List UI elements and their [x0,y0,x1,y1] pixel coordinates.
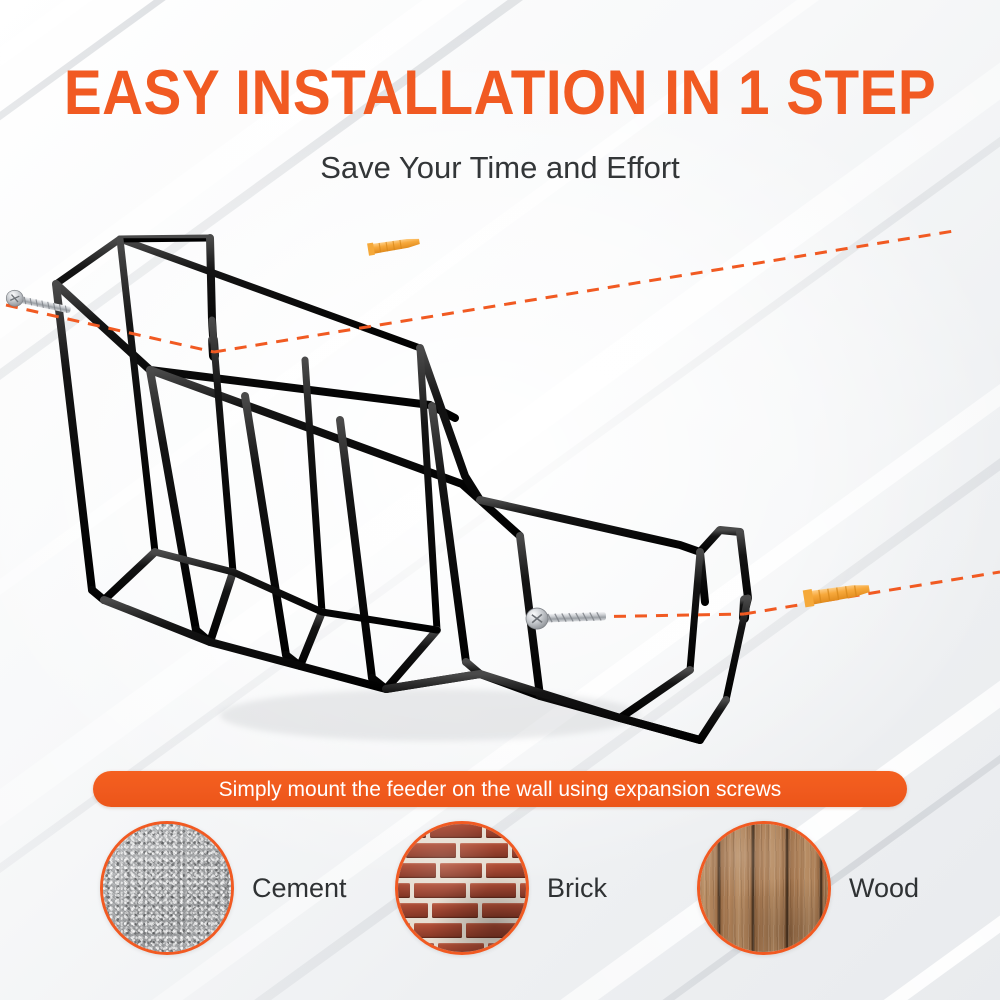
lower-screw [526,606,607,630]
page-subtitle: Save Your Time and Effort [0,152,1000,183]
back-vertical-2 [212,320,233,572]
back-vertical-5 [690,552,700,670]
upper-anchor [367,235,420,255]
front-vertical-2 [150,370,196,630]
front-vertical-4 [340,420,372,678]
product-shadow [220,689,640,741]
bottom-loop-2 [196,572,233,642]
front-top-rail [56,284,455,418]
instruction-banner: Simply mount the feeder on the wall usin… [93,771,907,807]
instruction-banner-text: Simply mount the feeder on the wall usin… [219,779,782,800]
page-title: EASY INSTALLATION IN 1 STEP [50,62,950,125]
back-vertical-3 [305,360,322,612]
material-item-brick[interactable]: Brick [395,818,607,958]
lower-mount-hardware [526,572,1000,629]
upper-dashed-guide-2 [214,230,960,352]
material-item-cement[interactable]: Cement [100,818,347,958]
material-label-wood: Wood [849,873,919,904]
back-top-left-return [120,238,210,239]
wire-rack-frame [56,238,748,740]
material-label-cement: Cement [252,873,347,904]
bottom-loop-3 [286,612,322,666]
bottom-loop-1 [92,552,155,600]
front-vertical-1 [56,284,92,590]
upper-dashed-guide [6,305,214,352]
front-vertical-3 [245,396,286,655]
cement-texture [103,824,231,952]
brick-swatch [395,821,529,955]
wood-swatch [697,821,831,955]
lower-anchor [803,580,871,607]
lower-anchor-body [809,582,870,605]
material-item-wood[interactable]: Wood [697,818,919,958]
upper-anchor-body [371,237,420,254]
brick-texture [398,824,526,952]
infographic-stage: EASY INSTALLATION IN 1 STEP Save Your Ti… [0,0,1000,1000]
right-hook-upper [700,530,740,552]
wood-texture [700,824,828,952]
back-vertical-1 [120,239,155,552]
material-list: Cement [0,818,1000,968]
material-label-brick: Brick [547,873,607,904]
lower-dashed-guide-2 [744,572,1000,614]
cement-swatch [100,821,234,955]
product-illustration [0,200,1000,760]
